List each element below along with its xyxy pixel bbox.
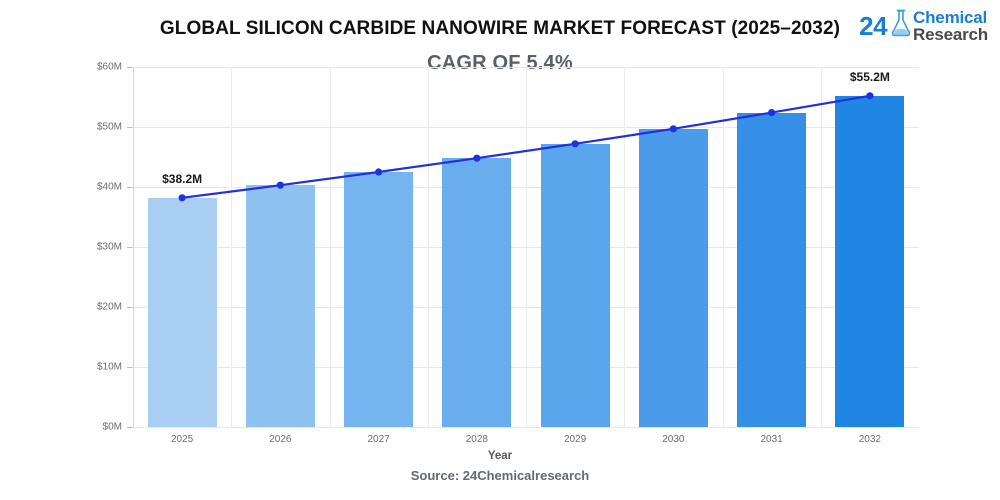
y-tick-label: $40M xyxy=(62,182,122,193)
y-tick-mark xyxy=(127,427,133,428)
plot-area xyxy=(133,67,919,427)
x-tick-label-2031: 2031 xyxy=(732,434,812,445)
category-divider xyxy=(428,67,429,427)
x-tick-label-2032: 2032 xyxy=(830,434,910,445)
x-axis-title: Year xyxy=(0,450,1000,462)
category-divider xyxy=(330,67,331,427)
category-divider xyxy=(821,67,822,427)
category-divider xyxy=(231,67,232,427)
y-tick-mark xyxy=(127,127,133,128)
chart-screenshot: 24 Chemical Research GLOBAL SILICON CARB… xyxy=(0,0,1000,500)
bar-2026[interactable] xyxy=(246,185,315,427)
y-tick-label: $60M xyxy=(62,62,122,73)
gridline xyxy=(133,427,919,428)
category-divider xyxy=(723,67,724,427)
bar-2027[interactable] xyxy=(344,172,413,427)
category-divider xyxy=(624,67,625,427)
x-tick-label-2025: 2025 xyxy=(142,434,222,445)
bar-2032[interactable] xyxy=(835,96,904,427)
bar-2028[interactable] xyxy=(442,158,511,427)
y-tick-label: $0M xyxy=(62,422,122,433)
y-tick-label: $10M xyxy=(62,362,122,373)
x-tick-label-2029: 2029 xyxy=(535,434,615,445)
bar-2025[interactable] xyxy=(148,198,217,427)
y-tick-mark xyxy=(127,367,133,368)
x-tick-label-2028: 2028 xyxy=(437,434,517,445)
x-tick-label-2027: 2027 xyxy=(339,434,419,445)
bar-2029[interactable] xyxy=(541,144,610,427)
y-tick-mark xyxy=(127,307,133,308)
y-tick-label: $50M xyxy=(62,122,122,133)
bar-2031[interactable] xyxy=(737,113,806,427)
x-tick-label-2030: 2030 xyxy=(633,434,713,445)
y-tick-label: $30M xyxy=(62,242,122,253)
page-title: GLOBAL SILICON CARBIDE NANOWIRE MARKET F… xyxy=(0,18,1000,40)
data-label-2032: $55.2M xyxy=(810,70,930,84)
category-divider xyxy=(526,67,527,427)
data-label-2025: $38.2M xyxy=(122,172,242,186)
y-tick-mark xyxy=(127,187,133,188)
y-tick-mark xyxy=(127,67,133,68)
source-caption: Source: 24Chemicalresearch xyxy=(0,468,1000,483)
x-tick-label-2026: 2026 xyxy=(240,434,320,445)
y-tick-label: $20M xyxy=(62,302,122,313)
bar-2030[interactable] xyxy=(639,129,708,427)
y-tick-mark xyxy=(127,247,133,248)
